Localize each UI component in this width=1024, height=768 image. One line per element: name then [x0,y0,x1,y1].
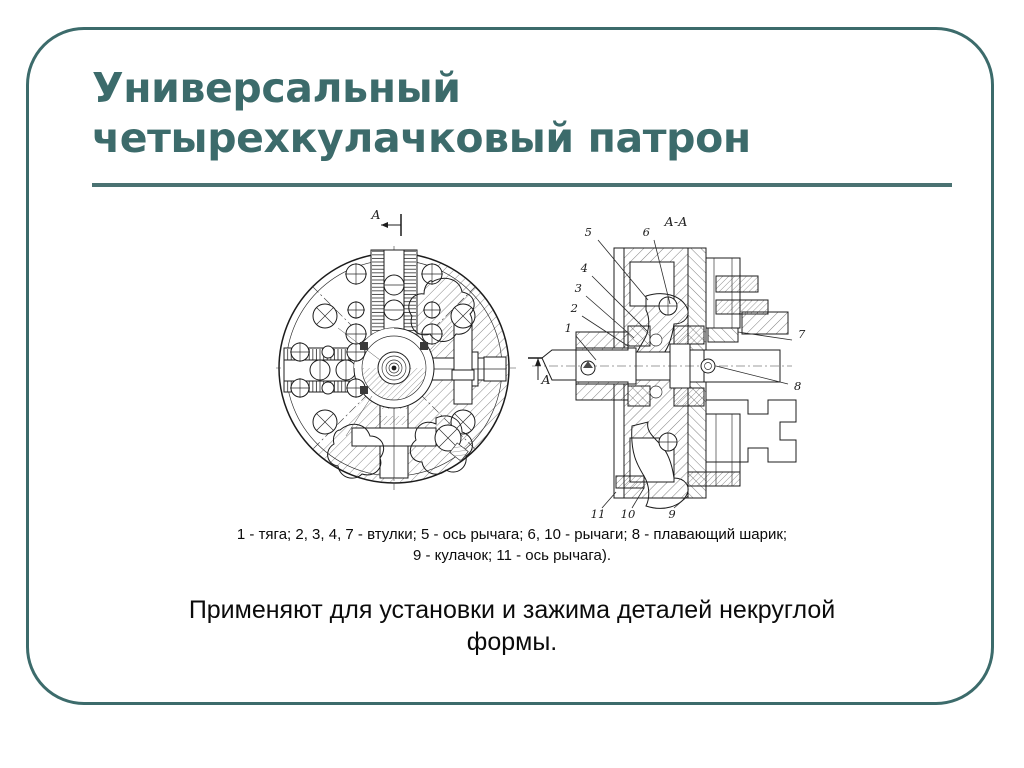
callout-11: 11 [591,507,606,520]
callout-8: 8 [794,379,801,393]
pivot-pin [616,476,644,488]
callout-4: 4 [580,261,588,275]
callout-9: 9 [668,507,675,520]
callout-10: 10 [621,507,636,520]
front-view-group: А [276,207,551,490]
technical-drawing-figure: А [276,200,832,520]
title-block: Универсальный четырехкулачковый патрон [92,63,954,163]
section-view-group: А-А [532,214,806,520]
callout-1: 1 [565,321,572,335]
callout-6: 6 [643,225,650,239]
slide-canvas: Универсальный четырехкулачковый патрон [0,0,1024,768]
page-title: Универсальный четырехкулачковый патрон [92,63,954,163]
title-underline-rule [92,183,952,187]
chuck-drawing-svg: А [276,200,832,520]
fittings-top-right [706,258,788,342]
callout-7: 7 [798,327,806,341]
floating-ball [701,359,715,373]
callout-2: 2 [570,301,578,315]
section-arrow-label-top: А [370,207,380,222]
section-view-title: А-А [663,214,687,229]
callout-3: 3 [575,281,582,295]
body-statement: Применяют для установки и зажима деталей… [92,594,932,658]
chuck-central-hub [354,328,434,408]
section-marker-top: А [370,207,401,236]
callout-5: 5 [585,225,592,239]
figure-legend-caption: 1 - тяга; 2, 3, 4, 7 - втулки; 5 - ось р… [62,524,962,567]
